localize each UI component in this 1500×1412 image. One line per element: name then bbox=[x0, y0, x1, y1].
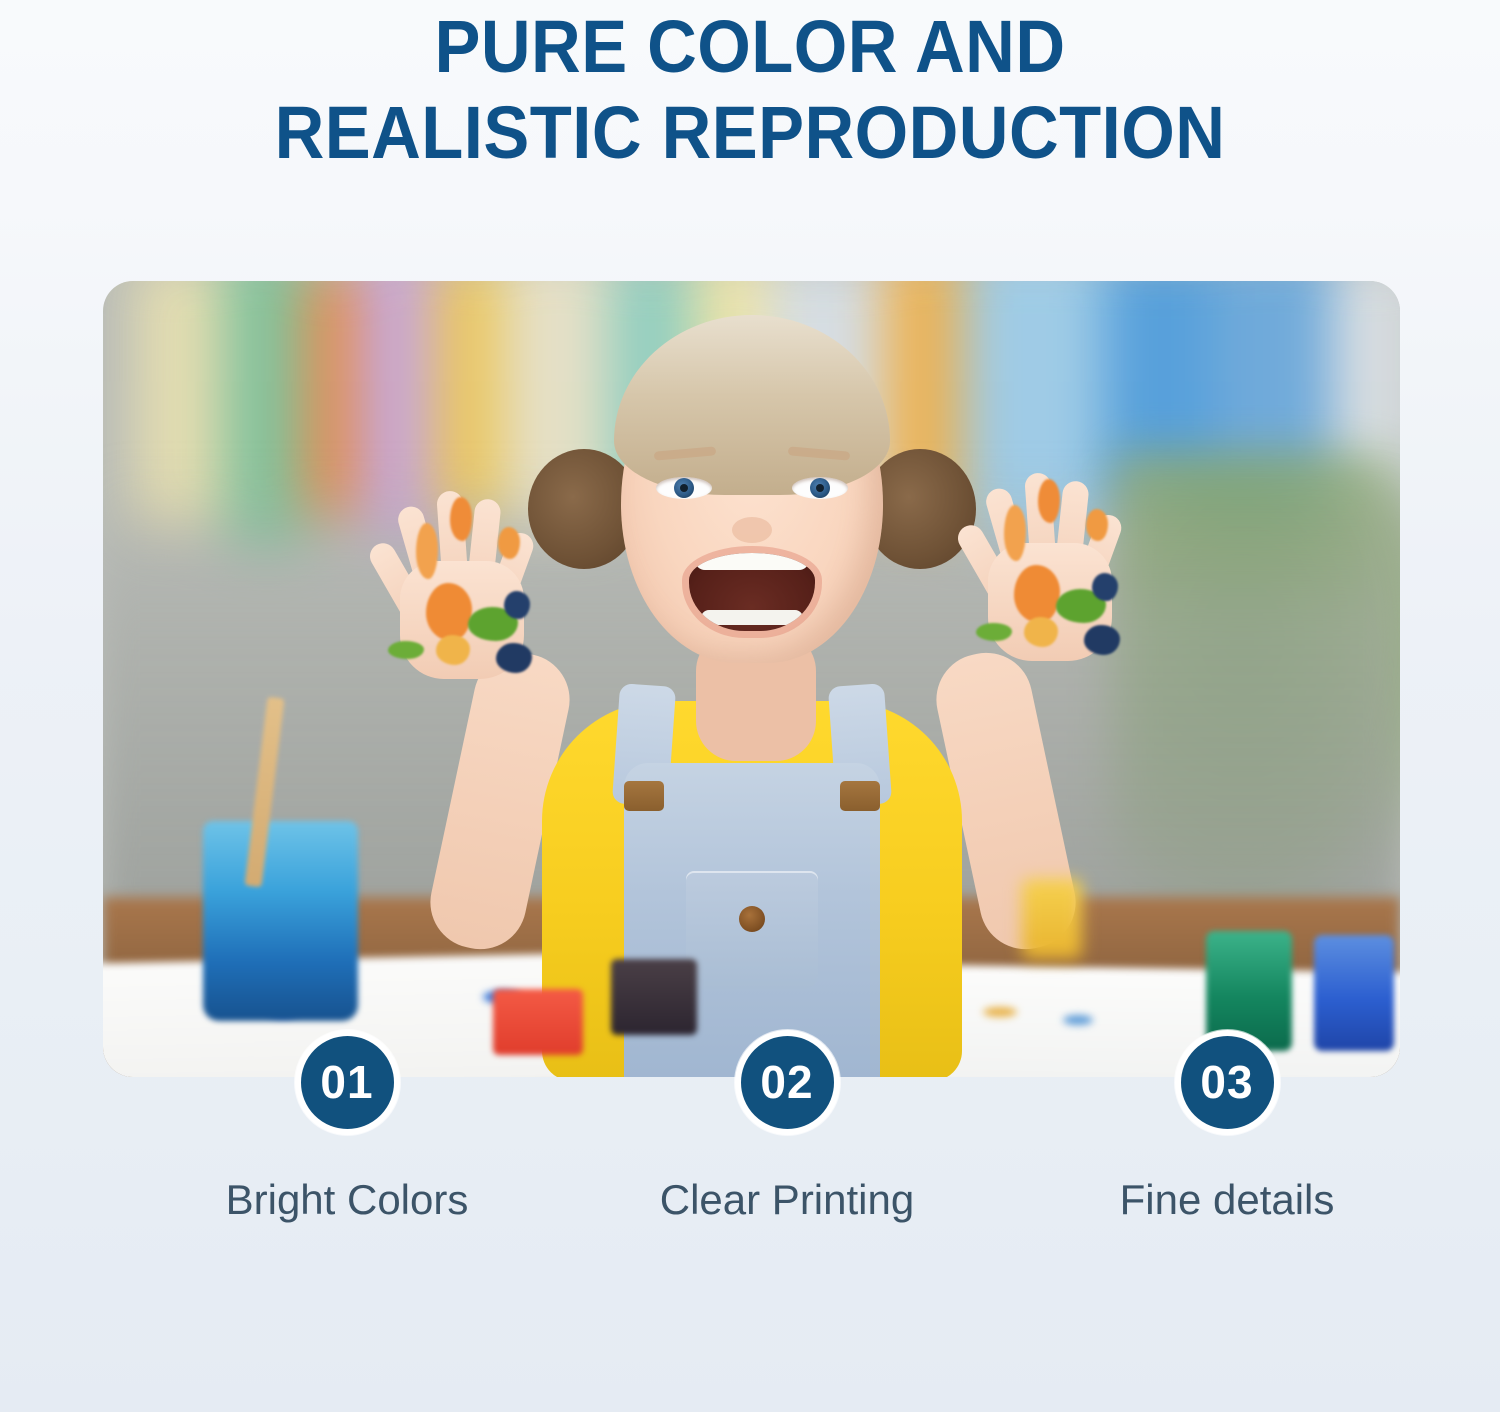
hero-photo-scene bbox=[103, 281, 1400, 1077]
feature-item-01: 01 Bright Colors bbox=[177, 1030, 517, 1224]
open-smiling-mouth bbox=[689, 553, 815, 631]
feature-badge-01: 01 bbox=[295, 1030, 400, 1135]
feature-badge-02: 02 bbox=[735, 1030, 840, 1135]
feature-badge-03: 03 bbox=[1175, 1030, 1280, 1135]
hero-photo bbox=[103, 281, 1400, 1077]
overall-buckle-right bbox=[840, 781, 880, 811]
eye-right bbox=[792, 477, 848, 499]
yellow-paint-blob bbox=[1022, 879, 1082, 959]
page-title-line-2: REALISTIC REPRODUCTION bbox=[53, 90, 1448, 176]
nose bbox=[732, 517, 772, 543]
dark-paint-pot bbox=[611, 959, 697, 1035]
feature-label-02: Clear Printing bbox=[617, 1176, 957, 1224]
feature-label-03: Fine details bbox=[1057, 1176, 1397, 1224]
painted-hand-right bbox=[968, 469, 1128, 659]
feature-label-01: Bright Colors bbox=[177, 1176, 517, 1224]
promo-page: PURE COLOR AND REALISTIC REPRODUCTION bbox=[0, 0, 1500, 1412]
painted-hand-left bbox=[380, 487, 540, 677]
blue-paint-cup bbox=[203, 821, 358, 1021]
page-title: PURE COLOR AND REALISTIC REPRODUCTION bbox=[53, 4, 1448, 176]
overall-buckle-left bbox=[624, 781, 664, 811]
overall-button bbox=[739, 906, 765, 932]
page-title-line-1: PURE COLOR AND bbox=[53, 4, 1448, 90]
hair bbox=[614, 315, 890, 495]
feature-item-03: 03 Fine details bbox=[1057, 1030, 1397, 1224]
feature-item-02: 02 Clear Printing bbox=[617, 1030, 957, 1224]
eye-left bbox=[656, 477, 712, 499]
